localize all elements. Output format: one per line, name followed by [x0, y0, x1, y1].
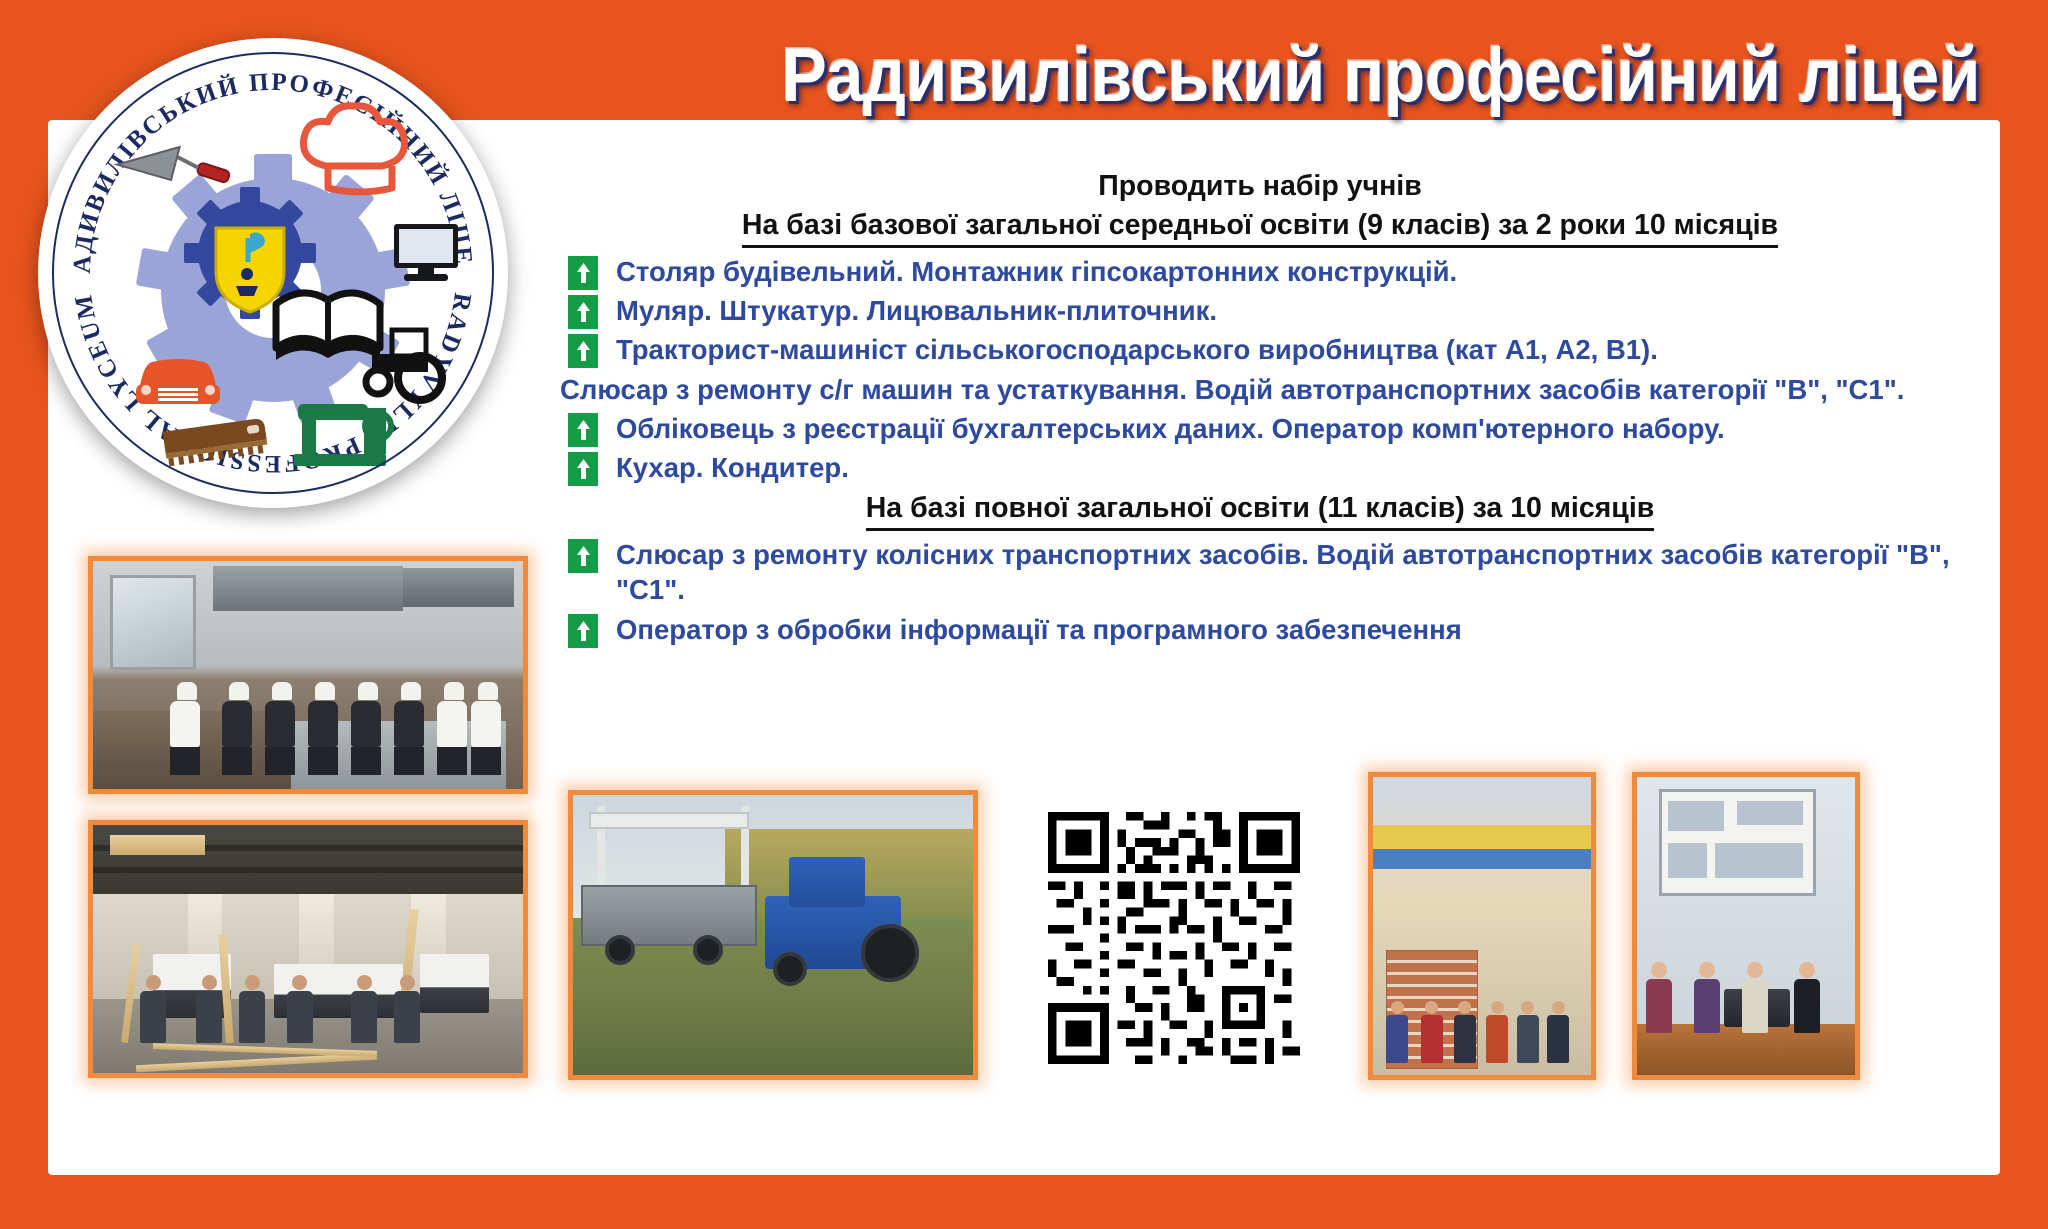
list-item: Столяр будівельний. Монтажник гіпсокарто…: [560, 254, 1960, 289]
list-item: Кухар. Кондитер.: [560, 450, 1960, 485]
photo-kitchen-class: [88, 556, 528, 794]
list-item-label: Тракторист-машиніст сільськогосподарсько…: [616, 334, 1658, 365]
section-1-heading-text: На базі базової загальної середньої осві…: [742, 207, 1778, 248]
photo-artwork: [93, 561, 523, 789]
photo-artwork: [93, 825, 523, 1073]
logo-artwork: * РАДИВИЛІВСЬКИЙ ПРОФЕСІЙНИЙ ЛІЦЕЙ * RAD…: [38, 38, 508, 508]
section-1-heading: На базі базової загальної середньої осві…: [560, 207, 1960, 250]
list-item-label: Муляр. Штукатур. Лицювальник-плиточник.: [616, 295, 1217, 326]
qr-code-graphic: [1048, 812, 1300, 1064]
list-item-label: Кухар. Кондитер.: [616, 452, 849, 483]
coat-of-arms-icon: [216, 228, 284, 312]
car-icon: [136, 359, 220, 404]
qr-code[interactable]: [1048, 812, 1300, 1064]
up-arrow-icon: [568, 334, 598, 368]
list-item-label: Столяр будівельний. Монтажник гіпсокарто…: [616, 256, 1457, 287]
section-2-list: Слюсар з ремонту колісних транспортних з…: [560, 537, 1960, 647]
admissions-poster: Радивилівський професійний ліцей * РАДИВ…: [0, 0, 2048, 1229]
list-item: Слюсар з ремонту колісних транспортних з…: [560, 537, 1960, 607]
list-item: Оператор з обробки інформації та програм…: [560, 612, 1960, 647]
logo-disc: * РАДИВИЛІВСЬКИЙ ПРОФЕСІЙНИЙ ЛІЦЕЙ * RAD…: [38, 38, 508, 508]
list-item: Муляр. Штукатур. Лицювальник-плиточник.: [560, 293, 1960, 328]
list-item-label: Обліковець з реєстрації бухгалтерських д…: [616, 413, 1725, 444]
list-item-label: Слюсар з ремонту колісних транспортних з…: [616, 539, 1950, 605]
poster-header: Радивилівський професійний ліцей: [500, 30, 1980, 120]
photo-artwork: [1637, 777, 1855, 1075]
up-arrow-icon: [568, 413, 598, 447]
photo-artwork: [1373, 777, 1591, 1075]
up-arrow-icon: [568, 295, 598, 329]
intro-heading: Проводить набір учнів: [560, 168, 1960, 207]
open-book-icon: [276, 293, 380, 360]
list-item: Тракторист-машиніст сільськогосподарсько…: [560, 332, 1960, 367]
photo-bricklaying: [1368, 772, 1596, 1080]
list-item-label: Оператор з обробки інформації та програм…: [616, 614, 1462, 645]
photo-woodwork-shop: [88, 820, 528, 1078]
chef-hat-icon: [303, 106, 404, 192]
section-2-heading-text: На базі повної загальної освіти (11 клас…: [866, 490, 1655, 531]
list-item: Слюсар з ремонту с/г машин та устаткуван…: [560, 372, 1960, 407]
photo-tractor: [568, 790, 978, 1080]
list-item: Обліковець з реєстрації бухгалтерських д…: [560, 411, 1960, 446]
up-arrow-icon: [568, 256, 598, 290]
list-item-label: Слюсар з ремонту с/г машин та устаткуван…: [560, 374, 1904, 405]
program-list-panel: Проводить набір учнів На базі базової за…: [560, 168, 1960, 647]
page-title: Радивилівський професійний ліцей: [782, 31, 1980, 118]
section-1-list: Столяр будівельний. Монтажник гіпсокарто…: [560, 254, 1960, 485]
section-2-heading: На базі повної загальної освіти (11 клас…: [560, 490, 1960, 533]
sewing-machine-icon: [294, 404, 391, 466]
lyceum-logo: * РАДИВИЛІВСЬКИЙ ПРОФЕСІЙНИЙ ЛІЦЕЙ * RAD…: [38, 38, 508, 508]
up-arrow-icon: [568, 614, 598, 648]
photo-artwork: [573, 795, 973, 1075]
photo-students-lab: [1632, 772, 1860, 1080]
up-arrow-icon: [568, 539, 598, 573]
up-arrow-icon: [568, 452, 598, 486]
